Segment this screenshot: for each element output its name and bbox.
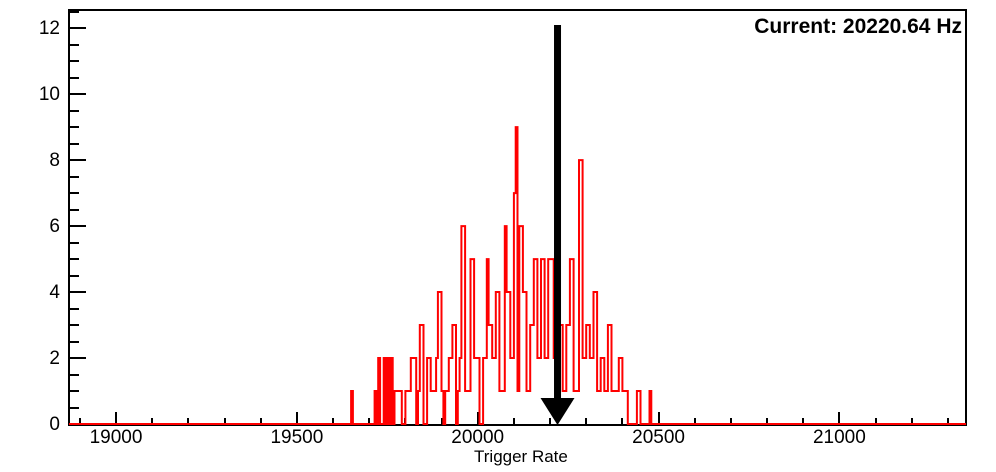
current-value-annotation: Current: 20220.64 Hz [754, 15, 962, 39]
x-axis-title: Trigger Rate [474, 447, 674, 467]
histogram-series [0, 0, 996, 472]
chart-canvas: 024681012 1900019500200002050021000 Trig… [0, 0, 996, 472]
